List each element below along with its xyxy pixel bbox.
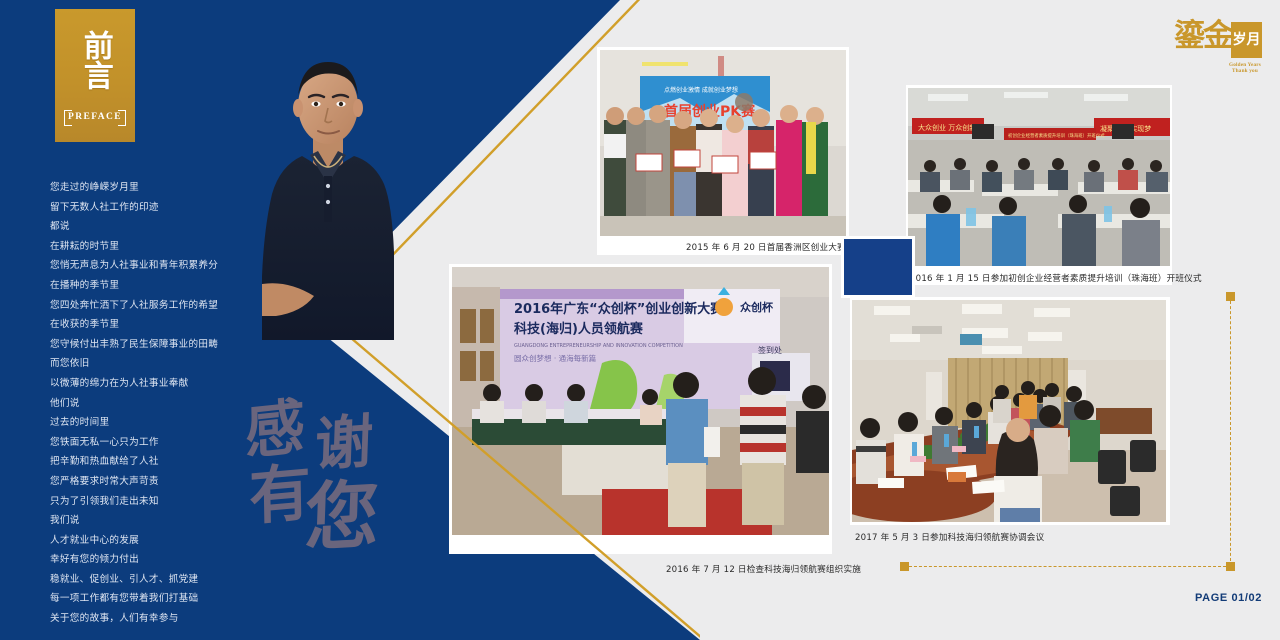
svg-text:众创杯: 众创杯 [740,300,774,314]
poster-page: 前言 PREFACE 您走过的峥嵘岁月里留下无数人社工作的印迹都说在耕耘的时节里… [0,0,1280,640]
logo-en-line2: Thank you [1228,68,1262,74]
brand-logo: 鎏金 岁月 Golden Years Thank you [1174,18,1262,92]
poem-line: 您守候付出丰熟了民生保障事业的田畴 [50,335,280,355]
poem-line: 留下无数人社工作的印迹 [50,198,280,218]
calligraphy-char-4: 您 [304,478,380,556]
logo-box-text: 岁月 [1233,32,1261,49]
photo-caption-2: 2016 年 1 月 15 日参加初创企业经营者素质提升培训（珠海班）开班仪式 [910,272,1202,284]
calligraphy-char-3: 有 [249,461,312,529]
poem-line: 每一项工作都有您带着我们打基础 [50,589,280,609]
calligraphy-char-2: 谢 [314,412,374,474]
poem-line: 关于您的故事，人们有幸参与 [50,609,280,629]
photo-coordination-meeting [852,300,1166,522]
preface-title-cn: 前言 [79,19,111,101]
corner-dot-elbow [1226,562,1235,571]
dashed-line-vertical [1230,296,1231,566]
photo-caption-4: 2017 年 5 月 3 日参加科技海归领航赛协调会议 [855,531,1044,543]
photo-training-class: 大众创业 万众创新 凝聚能力 实现梦 初创企业经营者素质提升培训（珠海班）开班仪… [908,88,1170,266]
bracket-right-icon [118,110,126,126]
navy-square-accent [841,236,915,298]
logo-english: Golden Years Thank you [1228,62,1262,75]
poem-line: 您走过的峥嵘岁月里 [50,178,280,198]
poem-line: 您悄无声息为人社事业和青年积累养分 [50,256,280,276]
poem-line: 在收获的季节里 [50,315,280,335]
svg-text:签到处: 签到处 [758,345,782,355]
preface-title-en: PREFACE [68,112,122,122]
poem-line: 在耕耘的时节里 [50,237,280,257]
poem-line: 在播种的季节里 [50,276,280,296]
dashed-line-horizontal [904,566,1231,567]
preface-badge: 前言 PREFACE [55,9,135,142]
poem-line: 您四处奔忙洒下了人社服务工作的希望 [50,296,280,316]
page-number: PAGE 01/02 [1195,592,1262,604]
poem-line: 都说 [50,217,280,237]
preface-title-en-wrap: PREFACE [64,107,126,127]
logo-char-liu: 鎏金 [1174,20,1232,53]
bracket-left-icon [64,110,72,126]
logo-box-cn: 岁月 [1231,22,1262,58]
poem-line: 而您依旧 [50,354,280,374]
corner-dot-left [900,562,909,571]
poem-line: 以微薄的绵力在为人社事业奉献 [50,374,280,394]
svg-text:大众创业 万众创新: 大众创业 万众创新 [918,123,976,132]
corner-dot-top [1226,292,1235,301]
calligraphy-thank-you: 感 谢 有 您 [243,392,403,582]
logo-main-cn: 鎏金 [1174,20,1232,53]
calligraphy-char-1: 感 [245,397,306,463]
photo-caption-1: 2015 年 6 月 20 日首届香洲区创业大赛 [686,241,846,253]
svg-text:初创企业经营者素质提升培训（珠海班）开班仪式: 初创企业经营者素质提升培训（珠海班）开班仪式 [1008,132,1105,139]
photo-caption-3: 2016 年 7 月 12 日检查科技海归领航赛组织实施 [666,563,861,575]
